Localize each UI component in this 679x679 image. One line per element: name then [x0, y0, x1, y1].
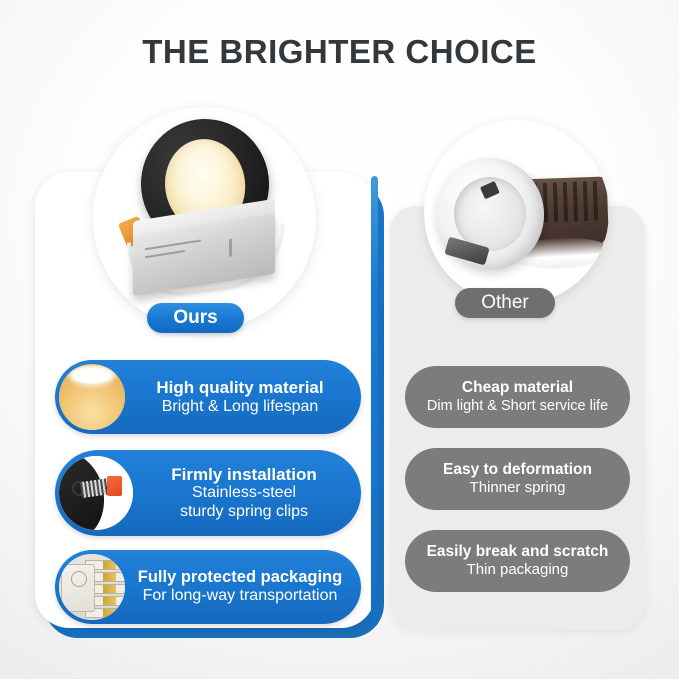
ours-product-photo — [93, 107, 316, 330]
glowing-warm-light-thumb-icon — [59, 364, 125, 430]
packaging-boxes-thumb-icon — [59, 554, 125, 620]
spring-clip-thumb-icon — [59, 456, 133, 530]
other-feature-pill-2[interactable]: Easy to deformation Thinner spring — [405, 448, 630, 510]
other-badge: Other — [455, 288, 555, 318]
ours-feature-subtitle-3: For long-way transportation — [127, 587, 353, 606]
ours-feature-text-3: Fully protected packaging For long-way t… — [125, 568, 361, 606]
ours-feature-text-1: High quality material Bright & Long life… — [125, 378, 361, 416]
ours-badge: Ours — [147, 303, 244, 333]
junction-box-detail — [145, 239, 201, 250]
other-feature-pill-3[interactable]: Easily break and scratch Thin packaging — [405, 530, 630, 592]
page-title: THE BRIGHTER CHOICE — [0, 33, 679, 71]
other-feature-subtitle-2: Thinner spring — [470, 479, 566, 497]
other-feature-pill-1[interactable]: Cheap material Dim light & Short service… — [405, 366, 630, 428]
other-feature-subtitle-1: Dim light & Short service life — [427, 398, 608, 415]
other-feature-subtitle-3: Thin packaging — [467, 561, 569, 579]
ours-badge-label: Ours — [173, 307, 217, 329]
ours-feature-text-2: Firmly installation Stainless-steel stur… — [133, 465, 361, 522]
ours-feature-pill-2[interactable]: Firmly installation Stainless-steel stur… — [55, 450, 361, 536]
ours-feature-subtitle2-2: sturdy spring clips — [135, 503, 353, 522]
ours-feature-pill-1[interactable]: High quality material Bright & Long life… — [55, 360, 361, 434]
comparison-infographic: THE BRIGHTER CHOICE Ours High quality m — [0, 0, 679, 679]
other-badge-label: Other — [481, 292, 529, 314]
ours-feature-subtitle-2: Stainless-steel — [135, 484, 353, 503]
ours-card-accent-stripe — [371, 176, 378, 626]
ours-feature-title-3: Fully protected packaging — [127, 568, 353, 587]
other-feature-title-3: Easily break and scratch — [427, 543, 609, 562]
junction-box-detail — [229, 239, 232, 257]
ours-feature-pill-3[interactable]: Fully protected packaging For long-way t… — [55, 550, 361, 624]
ours-feature-title-2: Firmly installation — [135, 465, 353, 485]
ours-feature-title-1: High quality material — [127, 378, 353, 398]
junction-box-detail — [145, 250, 185, 258]
other-feature-title-1: Cheap material — [462, 379, 573, 398]
other-feature-title-2: Easy to deformation — [443, 461, 592, 480]
ours-feature-subtitle-1: Bright & Long lifespan — [127, 398, 353, 417]
other-product-photo — [424, 120, 609, 305]
